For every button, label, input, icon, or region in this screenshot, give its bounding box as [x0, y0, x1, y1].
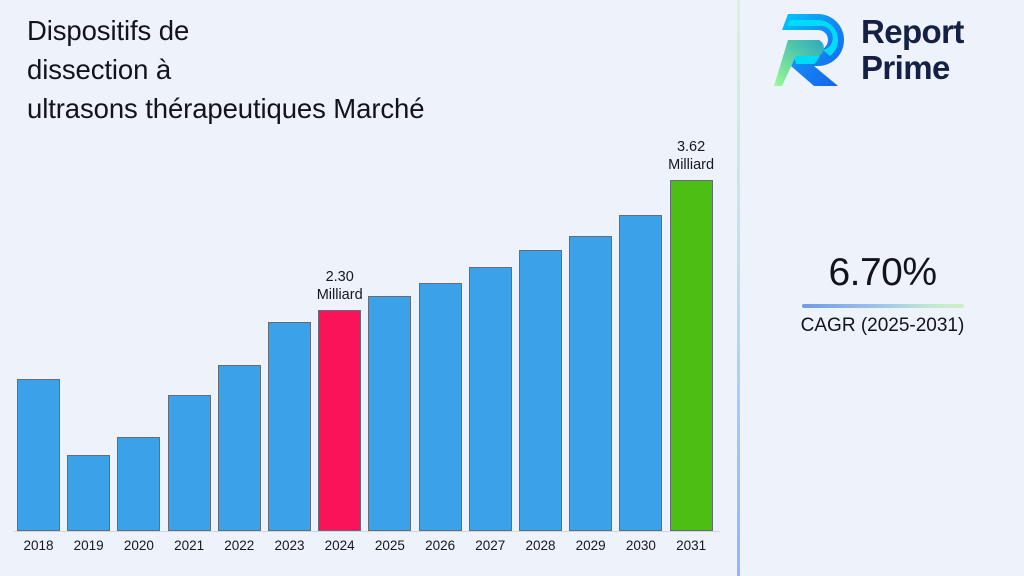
chart-panel: Dispositifs de dissection à ultrasons th… [0, 0, 738, 576]
bar-2023[interactable] [268, 322, 311, 531]
cagr-block: 6.70% CAGR (2025-2031) [741, 250, 1024, 338]
bar-2030[interactable] [619, 215, 662, 531]
bar-2021[interactable] [168, 395, 211, 531]
cagr-divider-rule [802, 304, 964, 308]
bar-2018[interactable] [17, 379, 60, 531]
bar-2029[interactable] [569, 236, 612, 531]
bar-2022[interactable] [218, 365, 261, 531]
bar-2025[interactable] [368, 296, 411, 531]
bar-chart-plot: 2018201920202021202220232.30 Milliard202… [0, 0, 738, 576]
bar-2024[interactable] [318, 310, 361, 531]
bar-2020[interactable] [117, 437, 160, 531]
bar-2031[interactable] [670, 180, 713, 531]
panel-divider [737, 0, 740, 576]
x-tick-2031: 2031 [661, 538, 721, 553]
bar-2028[interactable] [519, 250, 562, 531]
brand-logo[interactable]: Report Prime [774, 10, 964, 90]
bar-2019[interactable] [67, 455, 110, 531]
bar-2027[interactable] [469, 267, 512, 531]
cagr-value: 6.70% [741, 250, 1024, 296]
brand-panel: Report Prime 6.70% CAGR (2025-2031) [741, 0, 1024, 576]
report-prime-r-monogram-icon [774, 10, 848, 90]
x-axis-line [14, 531, 720, 532]
bar-2026[interactable] [419, 283, 462, 531]
brand-wordmark: Report Prime [861, 14, 964, 86]
bar-value-label-2031: 3.62 Milliard [636, 139, 746, 174]
cagr-label: CAGR (2025-2031) [741, 314, 1024, 338]
infographic-root: Dispositifs de dissection à ultrasons th… [0, 0, 1024, 576]
